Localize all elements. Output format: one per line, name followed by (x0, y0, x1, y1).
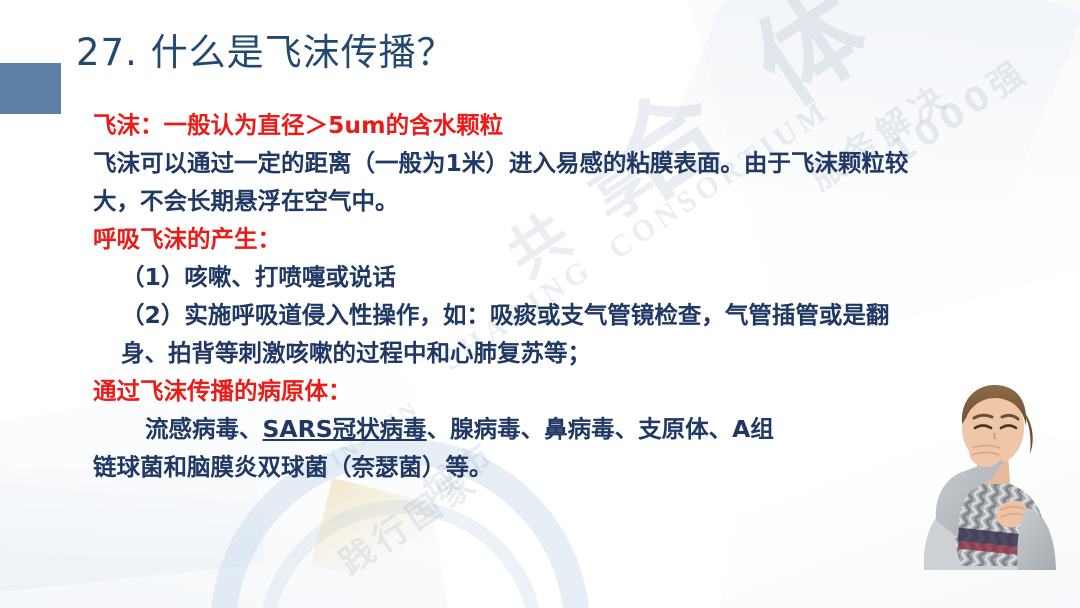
bottom-center-ring-shape-2 (258, 500, 544, 608)
pathogen-sars-underlined: SARS冠状病毒 (263, 415, 427, 443)
slide-canvas: 合 体 共 享 CONSORTIUM SHARING WIN-WIN 服务解决 … (0, 0, 1080, 608)
body-line-item-1: （1）咳嗽、打喷嚏或说话 (93, 258, 923, 296)
bottom-center-gold-accent (311, 478, 440, 592)
slide-body: 飞沫：一般认为直径＞5um的含水颗粒 飞沫可以通过一定的距离（一般为1米）进入易… (93, 106, 923, 486)
title-accent-block (0, 63, 61, 114)
pathogen-list-part-b: 、腺病毒、鼻病毒、支原体、A组 (427, 415, 774, 443)
body-line-pathogens-list: 流感病毒、SARS冠状病毒、腺病毒、鼻病毒、支原体、A组 (93, 410, 923, 448)
body-line-pathogens-list-cont: 链球菌和脑膜炎双球菌（奈瑟菌）等。 (93, 448, 923, 486)
body-line-pathogens-heading: 通过飞沫传播的病原体： (93, 372, 923, 410)
body-line-definition: 飞沫：一般认为直径＞5um的含水颗粒 (93, 106, 923, 144)
pathogen-list-part-a: 流感病毒、 (145, 415, 263, 443)
body-line-description: 飞沫可以通过一定的距离（一般为1米）进入易感的粘膜表面。由于飞沫颗粒较大，不会长… (93, 144, 923, 220)
body-line-generation-heading: 呼吸飞沫的产生： (93, 220, 923, 258)
body-line-item-2: （2）实施呼吸道侵入性操作，如：吸痰或支气管镜检查，气管插管或是翻身、拍背等刺激… (93, 296, 923, 372)
coughing-woman-photo (900, 380, 1072, 570)
page-title: 27. 什么是飞沫传播？ (76, 33, 455, 74)
